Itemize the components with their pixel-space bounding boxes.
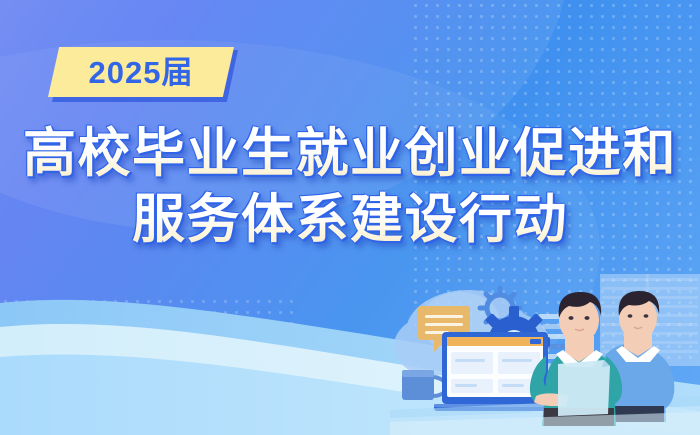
year-badge: 2025届: [48, 47, 238, 102]
headline-block: 高校毕业生就业创业促进和 服务体系建设行动: [0, 123, 700, 251]
promo-banner: 2025届 高校毕业生就业创业促进和 服务体系建设行动: [0, 0, 700, 435]
headline-line-2: 服务体系建设行动: [0, 189, 700, 251]
illustration-graphic: [390, 260, 700, 435]
document-sheet: [558, 360, 610, 416]
year-badge-face: 2025届: [48, 47, 234, 97]
year-badge-label: 2025届: [89, 57, 194, 88]
headline-line-1: 高校毕业生就业创业促进和: [0, 123, 700, 185]
